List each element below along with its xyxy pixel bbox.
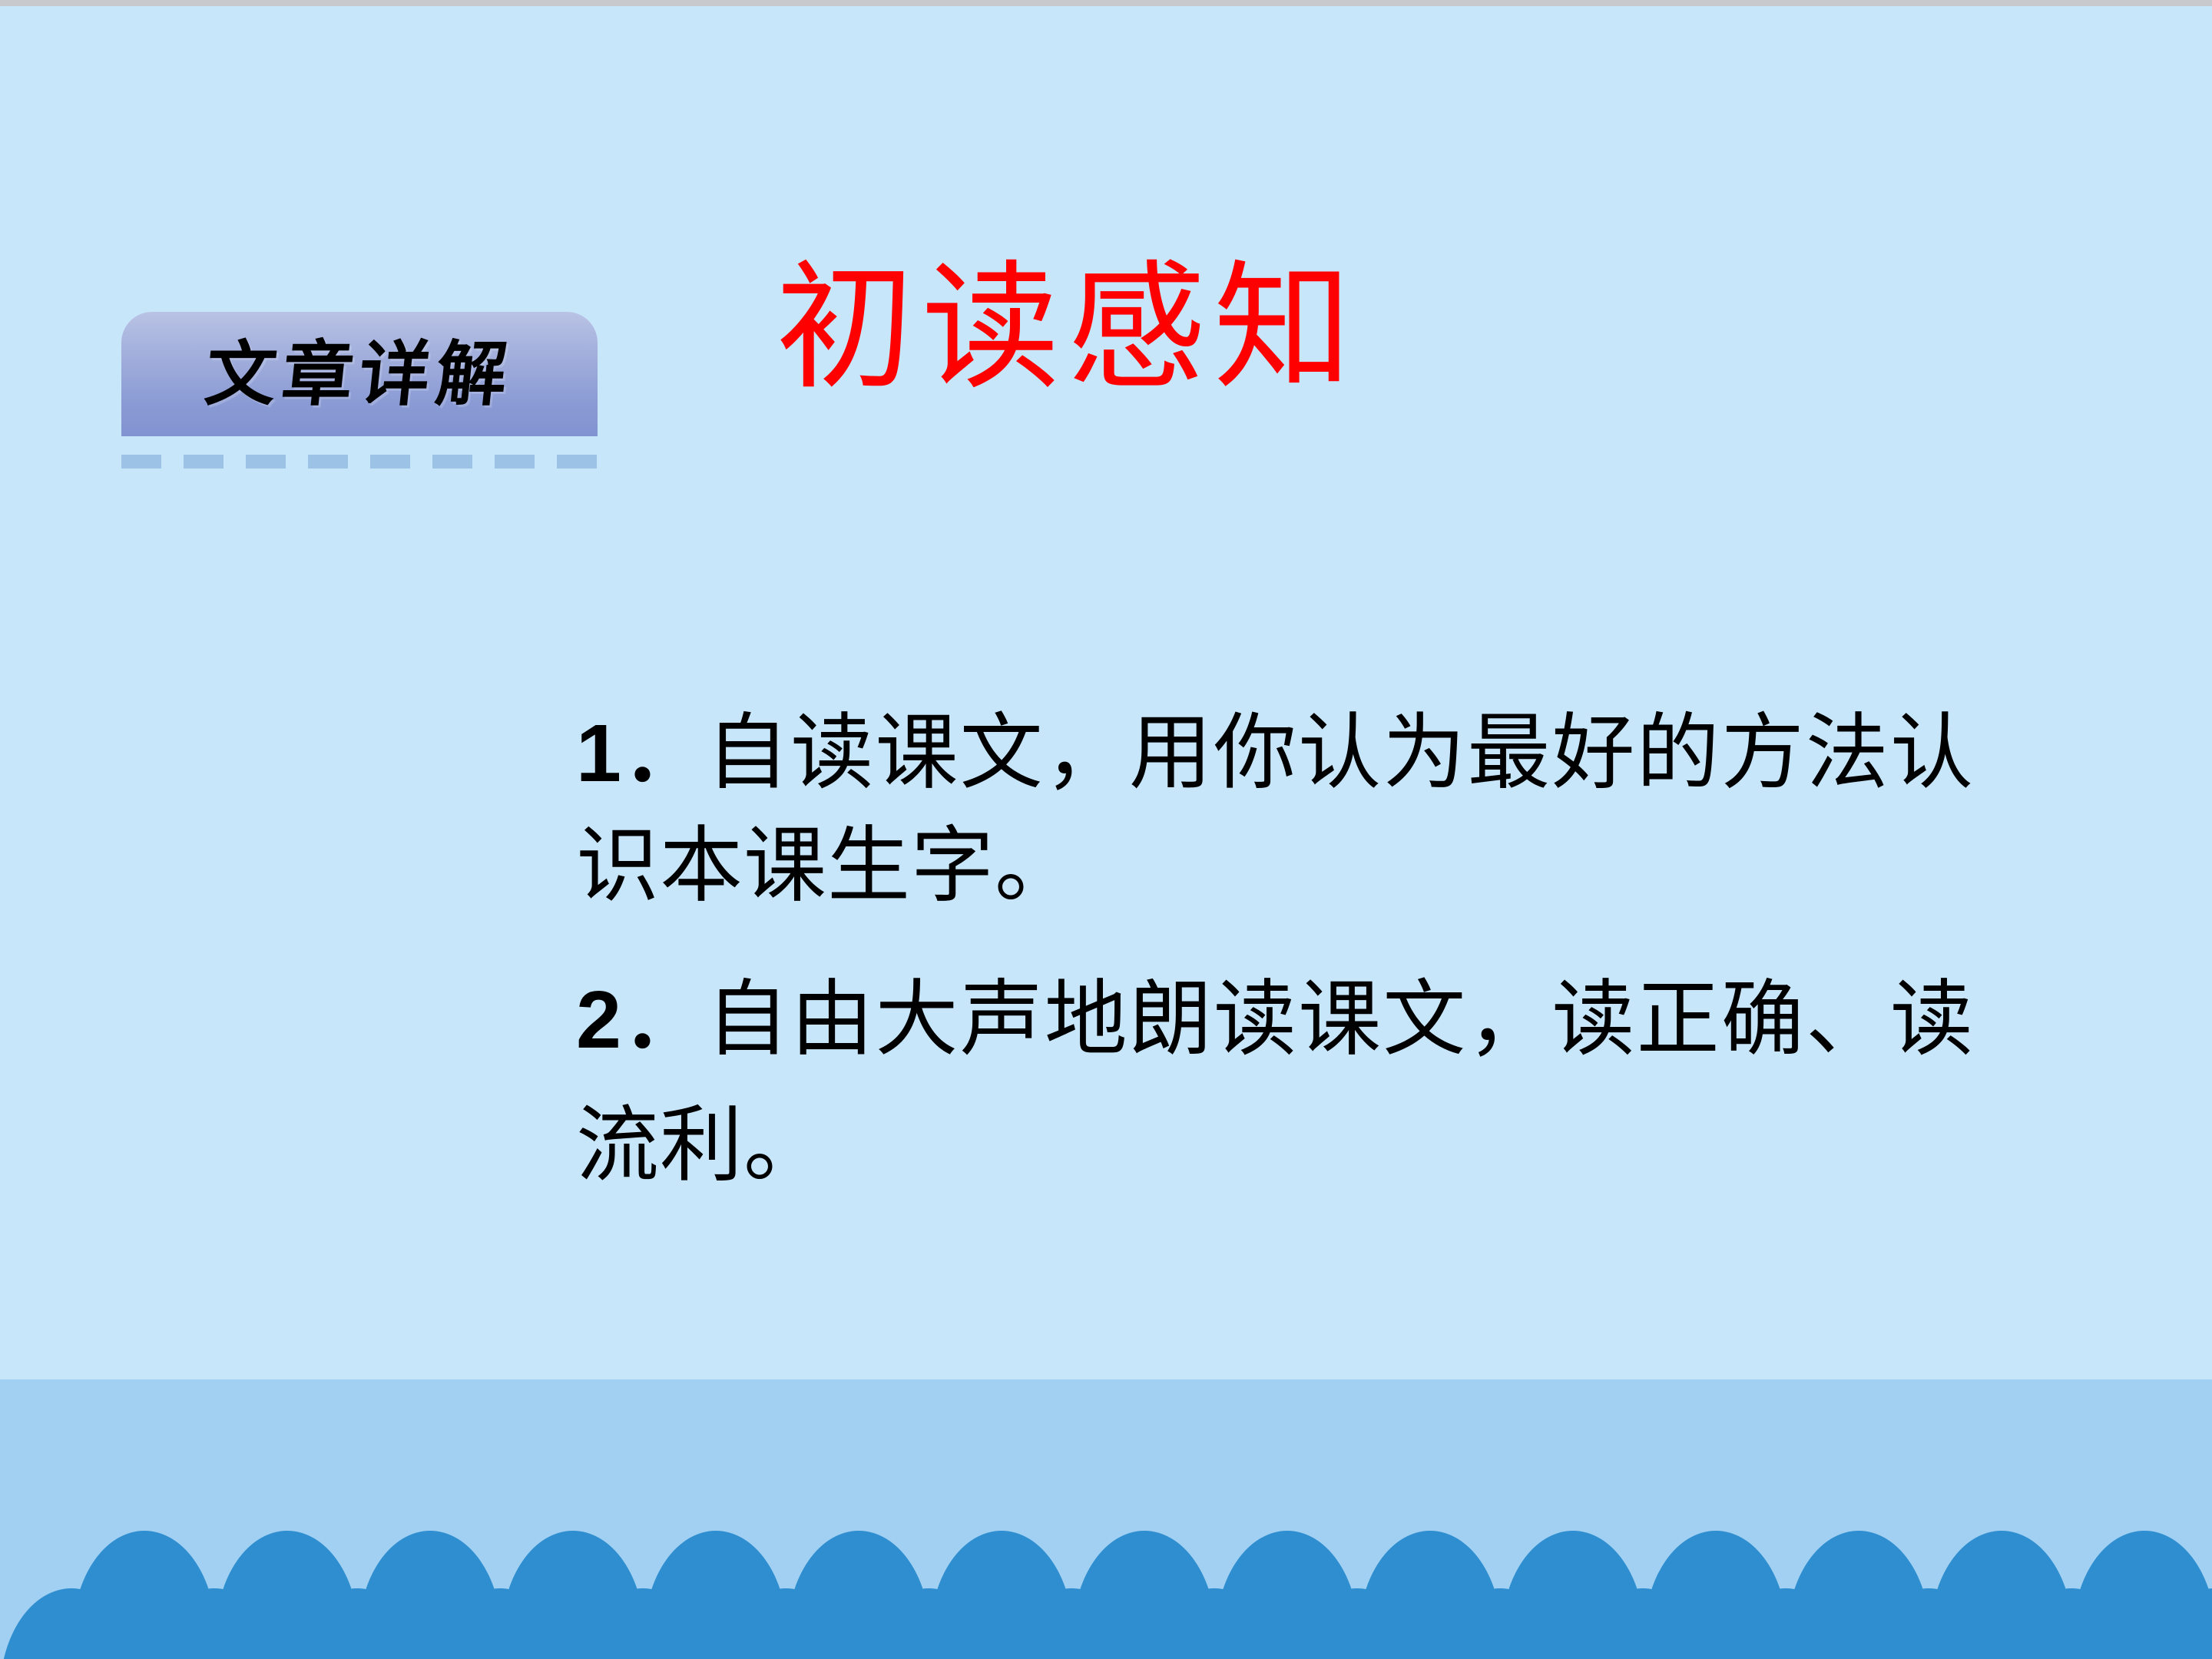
dash-segment	[184, 455, 224, 469]
scallop-shape	[1857, 1588, 2000, 1659]
scallop-shape	[1143, 1588, 1286, 1659]
list-item-number: 2．	[576, 975, 706, 1065]
scallop-shape	[1429, 1588, 1571, 1659]
section-badge: 文章详解	[121, 312, 598, 436]
scallop-shape	[143, 1588, 286, 1659]
slide-canvas: 文章详解 初读感知 1．自读课文，用你认为最好的方法认识本课生字。 2．自由大声…	[0, 0, 2212, 1659]
dash-segment	[308, 455, 348, 469]
scallop-shape	[1000, 1588, 1143, 1659]
scallop-shape	[429, 1588, 571, 1659]
list-item: 1．自读课文，用你认为最好的方法认识本课生字。	[576, 697, 1974, 923]
scallop-shape	[1286, 1588, 1429, 1659]
list-item: 2．自由大声地朗读课文，读正确、读流利。	[576, 957, 1974, 1209]
badge-dashed-underline	[121, 455, 605, 469]
badge-box: 文章详解	[121, 312, 598, 436]
scallop-shape	[714, 1588, 857, 1659]
scallop-shape	[286, 1588, 429, 1659]
dash-segment	[432, 455, 472, 469]
scallop-shape	[1714, 1588, 1857, 1659]
dash-segment	[246, 455, 286, 469]
badge-label: 文章详解	[202, 339, 517, 409]
scallop-shape	[1571, 1588, 1714, 1659]
content-list: 1．自读课文，用你认为最好的方法认识本课生字。 2．自由大声地朗读课文，读正确、…	[576, 697, 1974, 1243]
list-item-text: 自读课文，用你认为最好的方法认识本课生字。	[576, 705, 1974, 914]
scallop-shape	[2000, 1588, 2143, 1659]
list-item-text: 自由大声地朗读课文，读正确、读流利。	[576, 972, 1974, 1194]
bottom-decoration-band	[0, 1379, 2212, 1659]
dash-segment	[495, 455, 535, 469]
scallop-row-front	[0, 1588, 2212, 1659]
scallop-shape	[571, 1588, 714, 1659]
scallop-shape	[0, 1588, 143, 1659]
scallop-shape	[857, 1588, 1000, 1659]
scallop-shape	[2143, 1588, 2212, 1659]
dash-segment	[370, 455, 410, 469]
list-item-number: 1．	[576, 708, 706, 799]
page-title: 初读感知	[776, 260, 1359, 398]
dash-segment	[121, 455, 161, 469]
dash-segment	[557, 455, 597, 469]
